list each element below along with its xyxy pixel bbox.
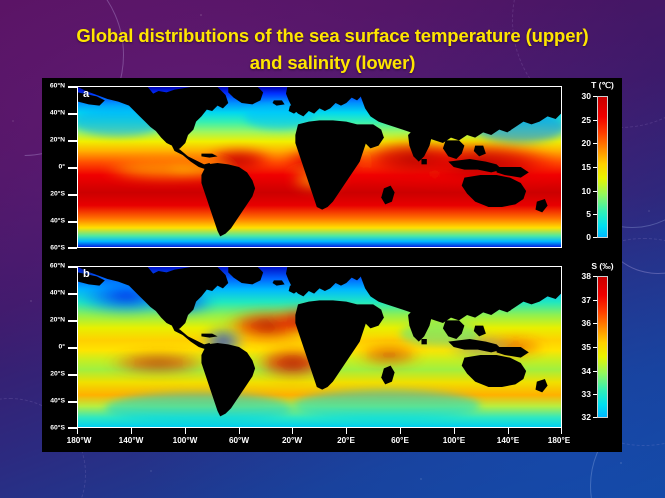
xaxis-tick	[185, 428, 186, 434]
salinity-colorbar-tick	[593, 417, 597, 418]
background-speck	[150, 470, 152, 472]
background-speck	[648, 210, 650, 212]
xaxis-label: 180°E	[548, 436, 570, 445]
background-speck	[420, 478, 422, 480]
temperature-colorbar-label: 20	[582, 138, 591, 148]
temperature-colorbar-label: 10	[582, 186, 591, 196]
xaxis-label: 100°E	[443, 436, 465, 445]
salinity-colorbar-tick	[593, 394, 597, 395]
temperature-colorbar-label: 15	[582, 162, 591, 172]
temperature-colorbar-label: 30	[582, 91, 591, 101]
panel-b-ytick	[68, 293, 77, 295]
panel-a-ytick	[68, 113, 77, 115]
panel-a-ylabel: 40°N	[50, 110, 65, 117]
temperature-colorbar-tick	[593, 191, 597, 192]
panel-b-ytick	[68, 427, 77, 429]
xaxis-tick	[77, 428, 78, 434]
panel-b-ytick	[68, 401, 77, 403]
panel-b-ylabel: 20°N	[50, 317, 65, 324]
panel-a-ytick	[68, 167, 77, 169]
xaxis-tick	[239, 428, 240, 434]
panel-a-ylabel: 20°S	[50, 191, 65, 198]
xaxis-label: 140°E	[497, 436, 519, 445]
panel-a-sea-surface-temperature: a 60°N 40°N 20°N 0° 20°S 40°S 60°S	[77, 86, 562, 248]
temperature-colorbar-tick	[593, 120, 597, 121]
xaxis-tick	[561, 428, 562, 434]
salinity-colorbar-tick	[593, 371, 597, 372]
salinity-colorbar-label: 34	[582, 366, 591, 376]
panel-a-ylabel: 40°S	[50, 218, 65, 225]
background-speck	[30, 300, 32, 302]
xaxis-label: 140°W	[119, 436, 144, 445]
temperature-colorbar-gradient	[597, 96, 608, 238]
slide-title-line-2: and salinity (lower)	[0, 49, 665, 76]
panel-b-ytick	[68, 374, 77, 376]
panel-a-frame	[77, 86, 562, 248]
panel-a-ytick	[68, 86, 77, 88]
salinity-colorbar-title: S (‰)	[591, 261, 613, 271]
xaxis-label: 100°W	[173, 436, 198, 445]
salinity-colorbar-label: 36	[582, 318, 591, 328]
temperature-colorbar-title: T (℃)	[591, 80, 614, 91]
panel-b-ylabel: 0°	[59, 344, 66, 351]
xaxis-label: 180°W	[67, 436, 92, 445]
panel-b-ylabel: 60°S	[50, 425, 65, 432]
panel-a-ytick	[68, 140, 77, 142]
salinity-colorbar-tick	[593, 300, 597, 301]
salinity-colorbar-label: 38	[582, 271, 591, 281]
panel-a-ylabel: 60°N	[50, 83, 65, 90]
xaxis-label: 20°E	[337, 436, 355, 445]
xaxis-tick	[400, 428, 401, 434]
salinity-colorbar-tick	[593, 347, 597, 348]
background-speck	[620, 462, 622, 464]
salinity-colorbar-tick	[593, 276, 597, 277]
panel-b-ylabel: 60°N	[50, 263, 65, 270]
temperature-colorbar-tick	[593, 237, 597, 238]
slide-title-line-1: Global distributions of the sea surface …	[0, 22, 665, 49]
salinity-colorbar-tick	[593, 323, 597, 324]
temperature-colorbar-label: 5	[586, 209, 591, 219]
xaxis-tick	[454, 428, 455, 434]
temperature-colorbar-tick	[593, 96, 597, 97]
salinity-colorbar-gradient	[597, 276, 608, 418]
panel-a-ytick	[68, 221, 77, 223]
xaxis-label: 60°W	[229, 436, 249, 445]
panel-a-ylabel: 20°N	[50, 137, 65, 144]
panel-a-ytick	[68, 194, 77, 196]
background-speck	[200, 14, 202, 16]
xaxis-tick	[508, 428, 509, 434]
salinity-colorbar-label: 37	[582, 295, 591, 305]
xaxis-tick	[292, 428, 293, 434]
salinity-colorbar: S (‰) 38 37 36 35 34 33 32	[597, 276, 608, 418]
panel-b-ylabel: 40°S	[50, 398, 65, 405]
panel-b-sea-surface-salinity: b 60°N 40°N 20°N 0° 20°S 40°S 60°S 180°W…	[77, 266, 562, 428]
panel-b-ylabel: 20°S	[50, 371, 65, 378]
salinity-colorbar-label: 32	[582, 412, 591, 422]
temperature-colorbar-label: 25	[582, 115, 591, 125]
panel-b-ytick	[68, 266, 77, 268]
panel-a-ylabel: 0°	[59, 164, 66, 171]
background-speck	[12, 120, 14, 122]
panel-a-ylabel: 60°S	[50, 245, 65, 252]
temperature-colorbar-label: 0	[586, 232, 591, 242]
panel-b-frame	[77, 266, 562, 428]
panel-b-label: b	[83, 268, 90, 280]
figure-container: a 60°N 40°N 20°N 0° 20°S 40°S 60°S	[42, 78, 622, 452]
panel-a-ytick	[68, 247, 77, 249]
xaxis-label: 60°E	[391, 436, 409, 445]
panel-b-ytick	[68, 320, 77, 322]
salinity-colorbar-label: 35	[582, 342, 591, 352]
temperature-colorbar: T (℃) 30 25 20 15 10 5 0	[597, 96, 608, 238]
temperature-colorbar-tick	[593, 143, 597, 144]
panel-a-label: a	[83, 88, 89, 100]
panel-b-ylabel: 40°N	[50, 290, 65, 297]
xaxis-label: 20°W	[282, 436, 302, 445]
panel-b-ytick	[68, 347, 77, 349]
xaxis-tick	[131, 428, 132, 434]
salinity-colorbar-label: 33	[582, 389, 591, 399]
temperature-colorbar-tick	[593, 214, 597, 215]
temperature-colorbar-tick	[593, 167, 597, 168]
slide-title: Global distributions of the sea surface …	[0, 22, 665, 76]
xaxis-tick	[346, 428, 347, 434]
